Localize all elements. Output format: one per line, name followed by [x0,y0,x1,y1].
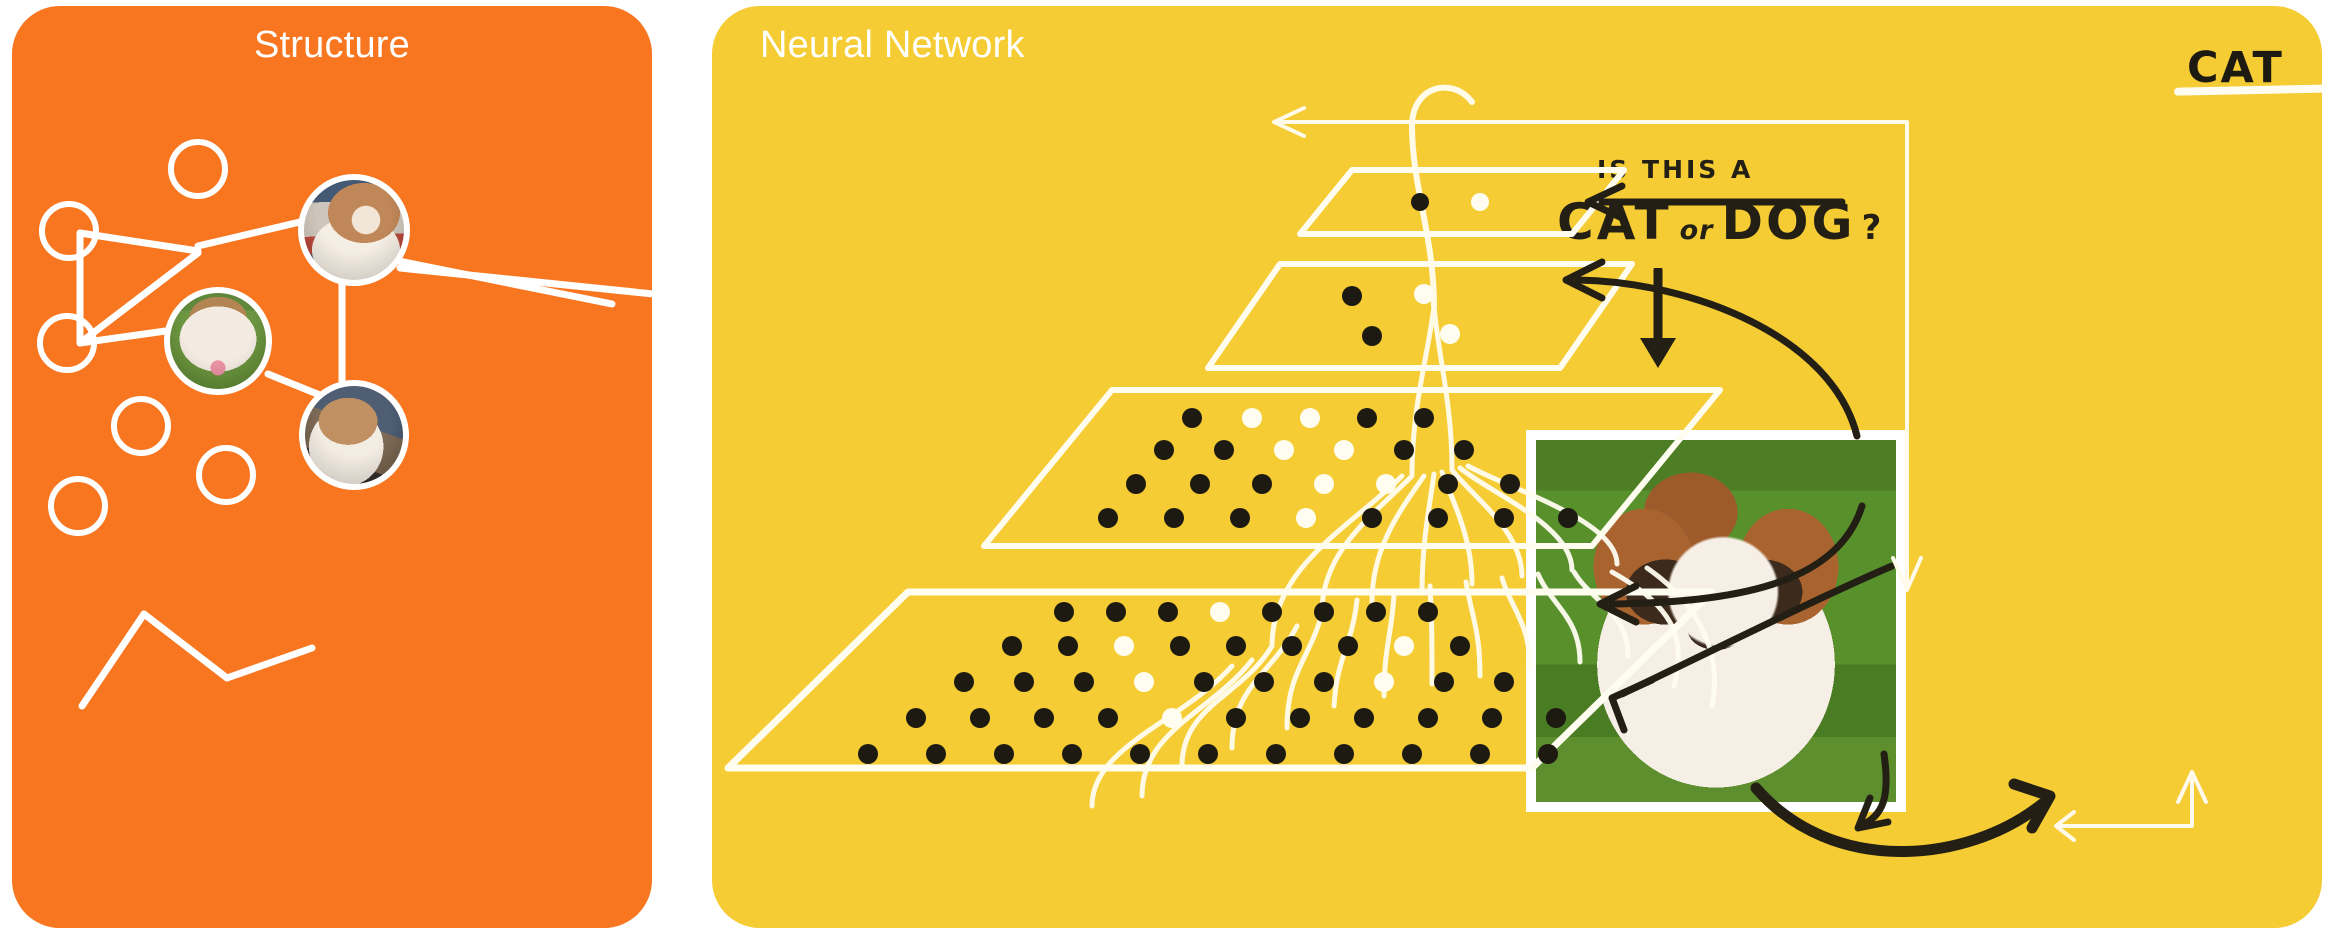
poster-canvas: Structure [0,0,2330,936]
neuron-active [1414,284,1434,304]
photo-shade [170,293,266,389]
graph-node [171,142,225,196]
input-layer-neurons [858,602,1566,764]
neuron-active [1440,324,1460,344]
neural-network-panel: Neural Network IS THIS A CATorDOG? CAT D… [712,6,2322,928]
pointer-arrows [1566,186,1892,828]
graph-node [114,399,168,453]
neuron-active [1471,193,1489,211]
network-diagram [712,6,2322,928]
structure-panel: Structure [12,6,652,928]
graph-node [199,448,253,502]
neuron-inactive [1411,193,1429,211]
activated-upper-arrow-icon [1578,280,1857,436]
output-layer-plate [1300,170,1624,234]
structure-photo-bulldog-on-carpet [298,174,410,286]
structure-photo-bulldog-puppy-sitting [299,380,409,490]
neuron-inactive [1342,286,1362,306]
graph-node [51,479,105,533]
photo-shade [304,180,404,280]
hidden-layer-1-neurons [1098,408,1578,528]
photo-shade [305,386,403,484]
structure-photo-bulldog-on-grass [164,287,272,395]
neuron-inactive [1362,326,1382,346]
